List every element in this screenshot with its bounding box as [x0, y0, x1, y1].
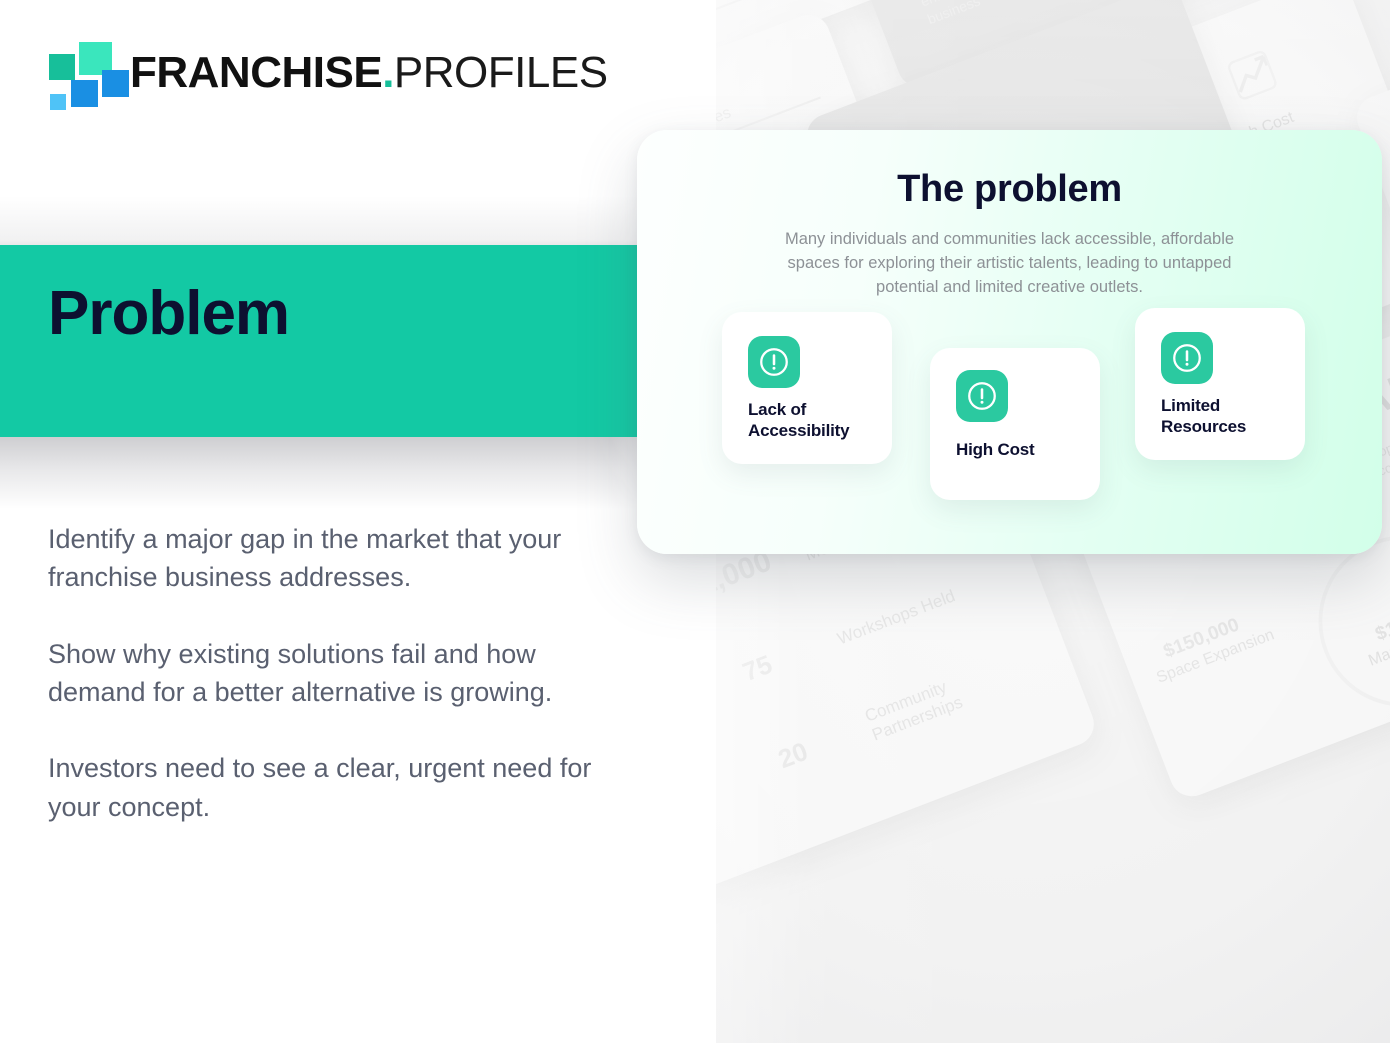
slide-preview-stage: $ Drop-in Fees Session Workshops Commiss…	[0, 0, 1390, 1043]
logo-square-teal-dark	[49, 54, 75, 80]
description-copy: Identify a major gap in the market that …	[48, 520, 628, 826]
logo-word-profiles: PROFILES	[394, 48, 608, 97]
description-paragraph-2: Show why existing solutions fail and how…	[48, 635, 628, 712]
franchise-profiles-logo[interactable]: FRANCHISE.PROFILES	[48, 42, 608, 104]
description-paragraph-1: Identify a major gap in the market that …	[48, 520, 628, 597]
logo-dot: .	[382, 48, 394, 97]
bg-stat-label: Community Partnerships	[862, 661, 998, 745]
bg-stat-value: 75	[738, 649, 776, 688]
problem-banner: Problem	[0, 245, 637, 437]
logo-squares-icon	[48, 42, 108, 104]
description-paragraph-3: Investors need to see a clear, urgent ne…	[48, 749, 628, 826]
chart-line-icon	[1223, 45, 1282, 104]
logo-square-blue-mid	[71, 80, 98, 107]
bg-stat-value: 20	[774, 736, 812, 775]
banner-top-shadow	[0, 196, 700, 246]
problem-item-label: Limited Resources	[1161, 396, 1291, 437]
preview-card-items: Lack of Accessibility High Cost	[637, 130, 1382, 554]
bg-stat-label: Workshops Held	[835, 586, 958, 649]
bg-rule	[716, 0, 890, 10]
problem-item-lack-of-accessibility[interactable]: Lack of Accessibility	[722, 312, 892, 464]
problem-item-limited-resources[interactable]: Limited Resources	[1135, 308, 1305, 460]
banner-bottom-shadow	[0, 437, 700, 509]
logo-square-blue-right	[102, 70, 129, 97]
page-title: Problem	[48, 283, 289, 345]
problem-item-label: Lack of Accessibility	[748, 400, 878, 441]
logo-square-blue-light	[50, 94, 66, 110]
exclamation-circle-icon	[1161, 332, 1213, 384]
left-content-panel: FRANCHISE.PROFILES Problem Identify a ma…	[0, 0, 716, 1043]
problem-item-label: High Cost	[956, 440, 1086, 461]
problem-item-high-cost[interactable]: High Cost	[930, 348, 1100, 500]
problem-preview-card[interactable]: The problem Many individuals and communi…	[637, 130, 1382, 554]
exclamation-circle-icon	[956, 370, 1008, 422]
logo-word-franchise: FRANCHISE	[130, 48, 382, 97]
logo-wordmark: FRANCHISE.PROFILES	[130, 51, 608, 95]
exclamation-circle-icon	[748, 336, 800, 388]
